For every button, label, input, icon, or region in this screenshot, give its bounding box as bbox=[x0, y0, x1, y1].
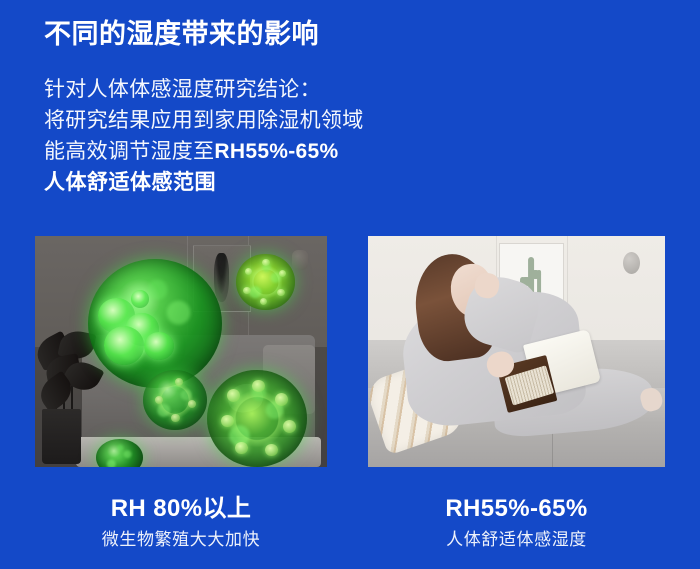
page-title: 不同的湿度带来的影响 bbox=[44, 17, 319, 51]
microbe-cluster-large bbox=[88, 259, 222, 388]
microbe-blob bbox=[144, 332, 174, 360]
microbe-spike bbox=[188, 400, 196, 408]
cactus-joint bbox=[530, 270, 541, 279]
intro-line-4: 人体舒适体感范围 bbox=[44, 167, 474, 198]
microbe-spike bbox=[275, 393, 288, 406]
microbe-spike bbox=[277, 289, 285, 296]
photo-microbe-room bbox=[35, 236, 327, 467]
panel-comfort-humidity bbox=[368, 236, 665, 467]
caption-comfort-humidity-desc: 人体舒适体感湿度 bbox=[368, 528, 665, 552]
caption-high-humidity: RH 80%以上 微生物繁殖大大加快 bbox=[35, 492, 327, 552]
photo-comfort-room bbox=[368, 236, 665, 467]
microbe-spike bbox=[155, 396, 163, 404]
promo-page: 不同的湿度带来的影响 针对人体体感湿度研究结论： 将研究结果应用到家用除湿机领域… bbox=[0, 0, 700, 569]
caption-high-humidity-value: RH 80%以上 bbox=[35, 492, 327, 525]
microbe-blob bbox=[131, 290, 150, 308]
wall-lamp-icon bbox=[292, 250, 308, 270]
intro-line-3: 能高效调节湿度至RH55%-65% bbox=[44, 136, 474, 167]
wall-lamp-icon bbox=[623, 252, 640, 274]
microbe-spike bbox=[283, 420, 296, 433]
microbe-spike bbox=[265, 444, 278, 457]
panel-captions: RH 80%以上 微生物繁殖大大加快 RH55%-65% 人体舒适体感湿度 bbox=[0, 492, 700, 569]
caption-high-humidity-desc: 微生物繁殖大大加快 bbox=[35, 528, 327, 552]
caption-comfort-humidity-value: RH55%-65% bbox=[368, 492, 665, 525]
microbe-spike bbox=[227, 389, 240, 402]
intro-line-3-text: 能高效调节湿度至 bbox=[44, 140, 214, 163]
caption-comfort-humidity: RH55%-65% 人体舒适体感湿度 bbox=[368, 492, 665, 552]
comparison-panels bbox=[0, 236, 700, 468]
microbe-spike bbox=[235, 442, 248, 455]
microbe-sphere-edge bbox=[143, 370, 207, 430]
microbe-spike bbox=[171, 414, 179, 422]
intro-line-2: 将研究结果应用到家用除湿机领域 bbox=[44, 105, 474, 136]
microbe-spike bbox=[245, 268, 253, 275]
microbe-blob bbox=[104, 326, 144, 365]
panel-high-humidity bbox=[35, 236, 327, 467]
plant-pot bbox=[42, 409, 81, 464]
microbe-spike bbox=[262, 259, 270, 266]
microbe-spike bbox=[252, 380, 265, 393]
microbe-sphere-small bbox=[96, 439, 143, 467]
light-room-scene bbox=[368, 236, 665, 467]
microbe-sphere-top bbox=[236, 254, 294, 309]
intro-line-3-range: RH55%-65% bbox=[214, 140, 338, 163]
microbe-spike bbox=[260, 298, 268, 305]
microbe-spike bbox=[221, 415, 234, 428]
microbe-sphere-bottom bbox=[207, 370, 306, 467]
dark-room-scene bbox=[35, 236, 327, 467]
microbe-spike bbox=[243, 287, 251, 294]
intro-copy: 针对人体体感湿度研究结论： 将研究结果应用到家用除湿机领域 能高效调节湿度至RH… bbox=[44, 74, 474, 198]
intro-line-1: 针对人体体感湿度研究结论： bbox=[44, 74, 474, 105]
